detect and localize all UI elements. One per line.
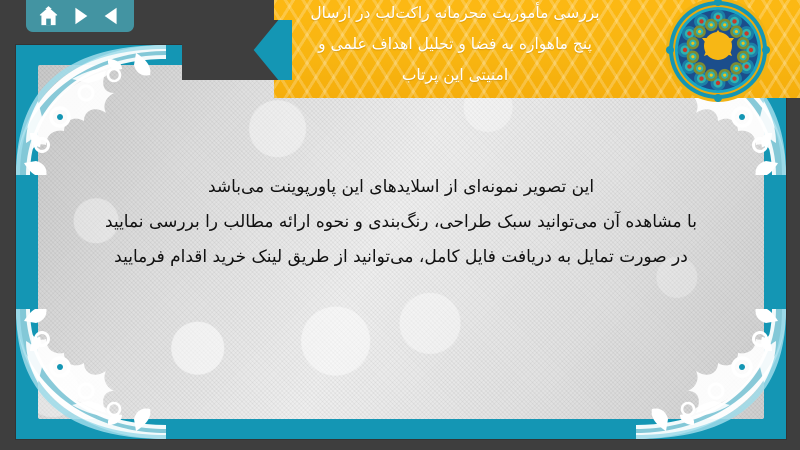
next-slide-button[interactable]: [66, 2, 94, 30]
slide-navigation-bar: [26, 0, 134, 32]
previous-slide-button[interactable]: [98, 2, 126, 30]
body-line-3: در صورت تمایل به دریافت فایل کامل، می‌تو…: [50, 240, 752, 275]
slide-title: بررسی مأموریت محرمانه راکت‌لب در ارسال پ…: [206, 0, 704, 91]
home-button[interactable]: [34, 2, 62, 30]
triangle-right-icon: [69, 5, 91, 27]
slide-body-text: این تصویر نمونه‌ای از اسلایدهای این پاور…: [50, 170, 752, 275]
persian-medallion-ornament: [662, 0, 774, 106]
presentation-viewer: بررسی مأموریت محرمانه راکت‌لب در ارسال پ…: [0, 0, 800, 450]
persian-medallion-icon: [662, 0, 774, 106]
body-line-1: این تصویر نمونه‌ای از اسلایدهای این پاور…: [50, 170, 752, 205]
slide-title-line-1: بررسی مأموریت محرمانه راکت‌لب در ارسال: [206, 0, 704, 29]
slide-title-line-3: امنیتی این پرتاب: [206, 60, 704, 91]
home-icon: [37, 5, 60, 28]
slide-title-line-2: پنج ماهواره به فضا و تحلیل اهداف علمی و: [206, 29, 704, 60]
body-line-2: با مشاهده آن می‌توانید سبک طراحی، رنگ‌بن…: [50, 205, 752, 240]
triangle-left-icon: [101, 5, 123, 27]
